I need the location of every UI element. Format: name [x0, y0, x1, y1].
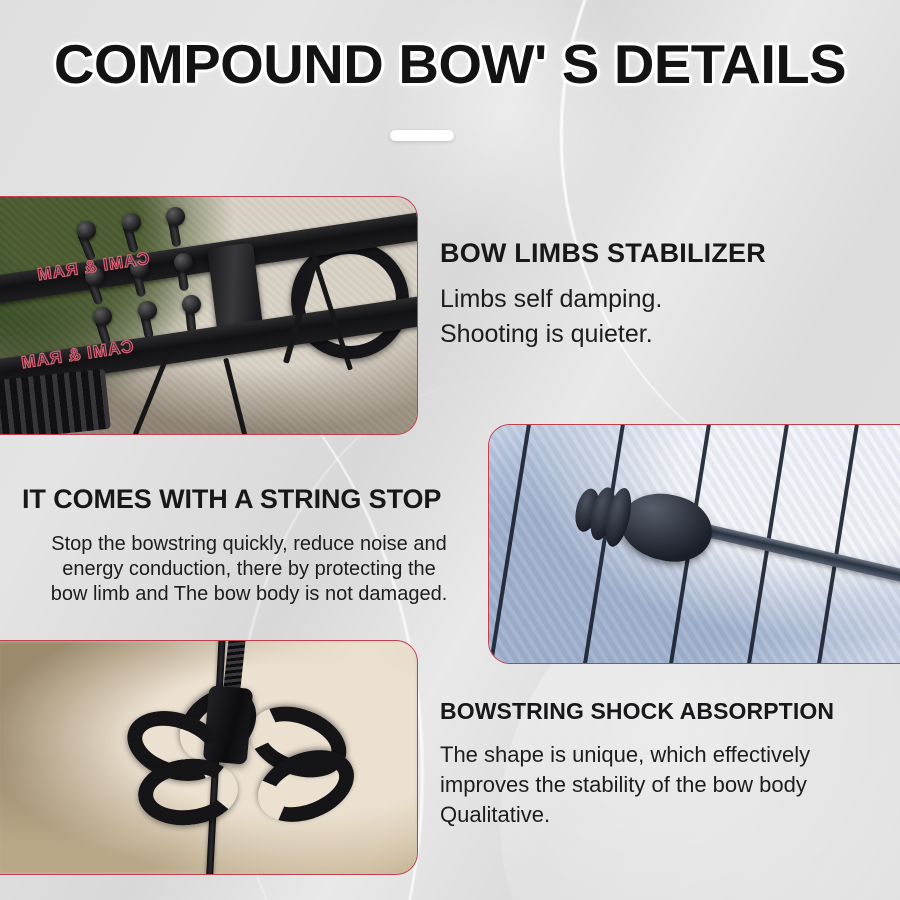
bowstring-silencer-photo — [0, 641, 417, 874]
body-string-stop: Stop the bowstring quickly, reduce noise… — [14, 532, 484, 607]
damper-tip — [77, 221, 96, 240]
body-line: Qualitative. — [440, 800, 880, 830]
damper-tip — [122, 213, 141, 232]
heading-bowstring-shock-absorption: BOWSTRING SHOCK ABSORPTION — [440, 698, 834, 725]
bow-limbs-photo: CAMI & RAM CAMI & RAM — [0, 197, 417, 434]
infographic-page: COMPOUND BOW' S DETAILS — [0, 0, 900, 900]
title-divider-bar — [390, 130, 454, 141]
body-line: improves the stability of the bow body — [440, 770, 880, 800]
body-line: energy conduction, there by protecting t… — [14, 557, 484, 582]
heading-bow-limbs-stabilizer: BOW LIMBS STABILIZER — [440, 238, 766, 269]
bowstring-silencer-photo-panel — [0, 640, 418, 875]
bow-riser — [0, 369, 111, 434]
body-line: Stop the bowstring quickly, reduce noise… — [14, 532, 484, 557]
damper-tip — [166, 207, 185, 226]
body-line: Shooting is quieter. — [440, 317, 870, 352]
body-bowstring-shock-absorption: The shape is unique, which effectively i… — [440, 740, 880, 830]
damper-tip — [138, 301, 157, 320]
bow-limbs-photo-panel: CAMI & RAM CAMI & RAM — [0, 196, 418, 435]
body-bow-limbs-stabilizer: Limbs self damping. Shooting is quieter. — [440, 282, 870, 352]
string-stop-photo — [489, 425, 900, 663]
page-title: COMPOUND BOW' S DETAILS — [0, 34, 900, 94]
body-line: Limbs self damping. — [440, 282, 870, 317]
heading-string-stop: IT COMES WITH A STRING STOP — [22, 484, 441, 515]
body-line: bow limb and The bow body is not damaged… — [14, 582, 484, 607]
body-line: The shape is unique, which effectively — [440, 740, 880, 770]
damper-tip — [93, 307, 112, 326]
damper-tip — [182, 295, 201, 314]
damper-tip — [174, 253, 193, 272]
string-stop-photo-panel — [488, 424, 900, 664]
